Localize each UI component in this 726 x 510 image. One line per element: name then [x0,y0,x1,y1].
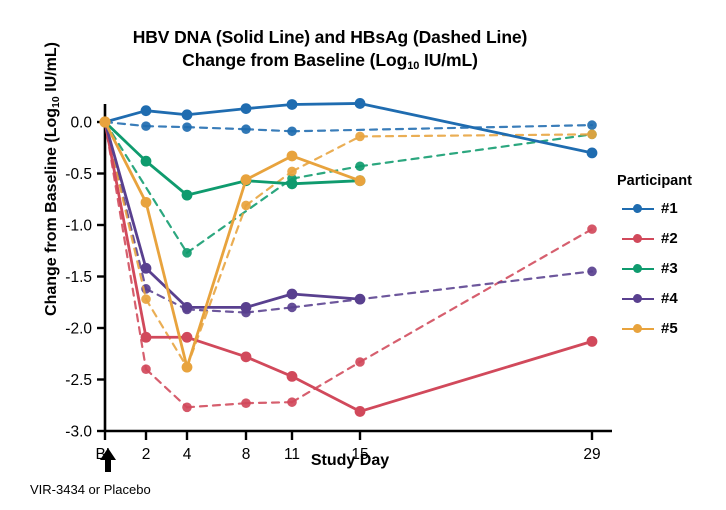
data-point [141,263,152,274]
data-point [182,190,193,201]
series-p2-hbsag [105,122,597,412]
data-point [241,124,251,134]
data-point [241,351,252,362]
svg-text:29: 29 [583,446,600,463]
data-point [241,398,251,408]
legend-swatch-icon [622,323,654,335]
data-point [141,197,152,208]
data-point [182,248,192,258]
chart-page: HBV DNA (Solid Line) and HBsAg (Dashed L… [0,0,726,510]
data-point [287,371,298,382]
data-point [287,126,297,136]
svg-text:-2.5: -2.5 [65,372,92,389]
data-point [182,332,193,343]
legend-item-label: #2 [661,230,678,247]
svg-text:-0.5: -0.5 [65,166,92,183]
data-point [182,362,193,373]
data-point [355,98,366,109]
legend-item-p3[interactable]: #3 [622,260,678,277]
svg-text:11: 11 [284,446,300,463]
data-point [587,130,597,140]
y-axis-ticks: 0.0-0.5-1.0-1.5-2.0-2.5-3.0 [65,115,105,441]
legend-item-p1[interactable]: #1 [622,200,678,217]
svg-text:8: 8 [242,446,251,463]
series-p1-hbvdna [105,98,597,158]
data-point [355,161,365,171]
data-point [182,302,193,313]
legend-item-label: #5 [661,320,678,337]
svg-text:-1.5: -1.5 [65,269,92,286]
data-point [287,303,297,313]
svg-text:4: 4 [183,446,192,463]
data-point [287,167,297,177]
legend-swatch-icon [622,233,654,245]
svg-text:-3.0: -3.0 [65,424,92,441]
data-point [355,406,366,417]
legend-item-label: #3 [661,260,678,277]
legend-item-p5[interactable]: #5 [622,320,678,337]
data-point [287,397,297,407]
dose-annotation: VIR-3434 or Placebo [30,482,151,497]
data-point [141,332,152,343]
baseline-point [99,116,110,127]
data-point [182,109,193,120]
plot-area: 0.0-0.5-1.0-1.5-2.0-2.5-3.0BL248111529 [0,0,726,510]
series-p3-hbvdna [105,122,365,201]
legend-swatch-icon [622,263,654,275]
data-point [287,99,298,110]
data-point [141,105,152,116]
data-point [587,336,598,347]
data-point [587,267,597,277]
data-point [141,364,151,374]
legend-swatch-icon [622,293,654,305]
series-p1-hbsag [105,120,597,136]
svg-text:0.0: 0.0 [70,115,92,132]
data-point [587,120,597,130]
svg-text:-1.0: -1.0 [65,218,92,235]
data-point [287,151,298,162]
svg-text:2: 2 [142,446,151,463]
x-axis-ticks: BL248111529 [96,431,601,463]
data-point [141,121,151,131]
legend-item-p4[interactable]: #4 [622,290,678,307]
data-point [355,175,366,186]
data-point [587,148,598,159]
legend-title: Participant [617,173,692,189]
data-point [182,403,192,413]
dose-arrow-icon [97,447,119,478]
svg-text:15: 15 [351,446,368,463]
legend-swatch-icon [622,203,654,215]
legend-item-label: #1 [661,200,678,217]
data-point [241,174,252,185]
data-point [355,294,366,305]
data-point [141,294,151,304]
data-point [287,289,298,300]
data-point [587,224,597,234]
data-point [241,201,251,211]
data-point [182,122,192,132]
data-point [241,103,252,114]
data-point [141,156,152,167]
legend-item-p2[interactable]: #2 [622,230,678,247]
svg-text:-2.0: -2.0 [65,321,92,338]
data-point [287,178,298,189]
legend-item-label: #4 [661,290,678,307]
data-point [355,357,365,367]
axes [105,104,612,431]
data-point [355,132,365,142]
series-p4-hbsag [105,122,597,317]
data-point [241,302,252,313]
